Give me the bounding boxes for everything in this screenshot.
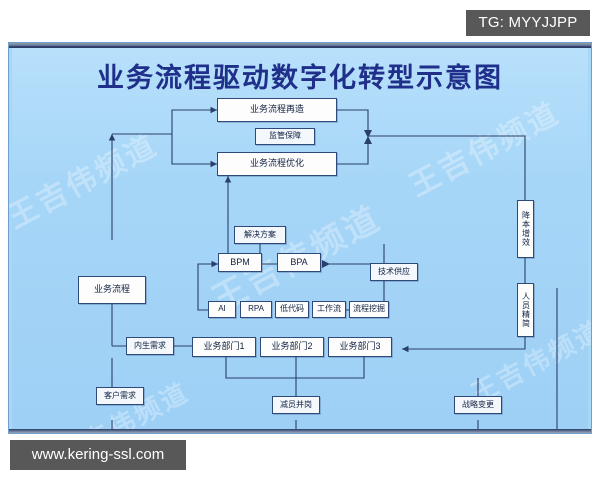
diagram-surface: 王吉伟频道 王吉伟频道 王吉伟频道 王吉伟频道 王吉伟频道 业务流程驱动数字化转… (12, 48, 588, 429)
node-cost-efficiency[interactable]: 降本增效 (517, 200, 534, 258)
node-strategy-change[interactable]: 战略变更 (454, 396, 502, 414)
node-dept-2[interactable]: 业务部门2 (260, 337, 324, 357)
node-solution[interactable]: 解决方案 (234, 226, 286, 244)
node-bp-reengineer[interactable]: 业务流程再造 (217, 98, 337, 122)
url-watermark-badge: www.kering-ssl.com (10, 440, 186, 470)
node-rpa[interactable]: RPA (240, 301, 272, 318)
node-inner-demand[interactable]: 内生需求 (126, 337, 174, 355)
node-staff-reduction[interactable]: 人员精简 (517, 283, 534, 337)
tg-watermark-badge: TG: MYYJJPP (466, 10, 590, 36)
node-dept-3[interactable]: 业务部门3 (328, 337, 392, 357)
node-lowcode[interactable]: 低代码 (275, 301, 309, 318)
node-customer-demand[interactable]: 客户需求 (96, 387, 144, 405)
diagram-canvas: 王吉伟频道 王吉伟频道 王吉伟频道 王吉伟频道 王吉伟频道 业务流程驱动数字化转… (8, 42, 592, 434)
node-dept-1[interactable]: 业务部门1 (192, 337, 256, 357)
node-workflow[interactable]: 工作流 (312, 301, 346, 318)
screenshot-root: TG: MYYJJPP 王吉伟频道 王吉伟频道 王吉伟频道 王吉伟频道 王吉伟频… (0, 0, 600, 480)
node-headcount-reduction[interactable]: 减员并岗 (272, 396, 320, 414)
node-bpm[interactable]: BPM (218, 253, 262, 272)
node-ai[interactable]: AI (208, 301, 236, 318)
node-mining[interactable]: 流程挖掘 (349, 301, 389, 318)
node-business-process[interactable]: 业务流程 (78, 276, 146, 304)
node-tech-supply[interactable]: 技术供应 (370, 263, 418, 281)
node-supervision[interactable]: 监管保障 (255, 128, 315, 145)
node-bp-optimize[interactable]: 业务流程优化 (217, 152, 337, 176)
node-bpa[interactable]: BPA (277, 253, 321, 272)
